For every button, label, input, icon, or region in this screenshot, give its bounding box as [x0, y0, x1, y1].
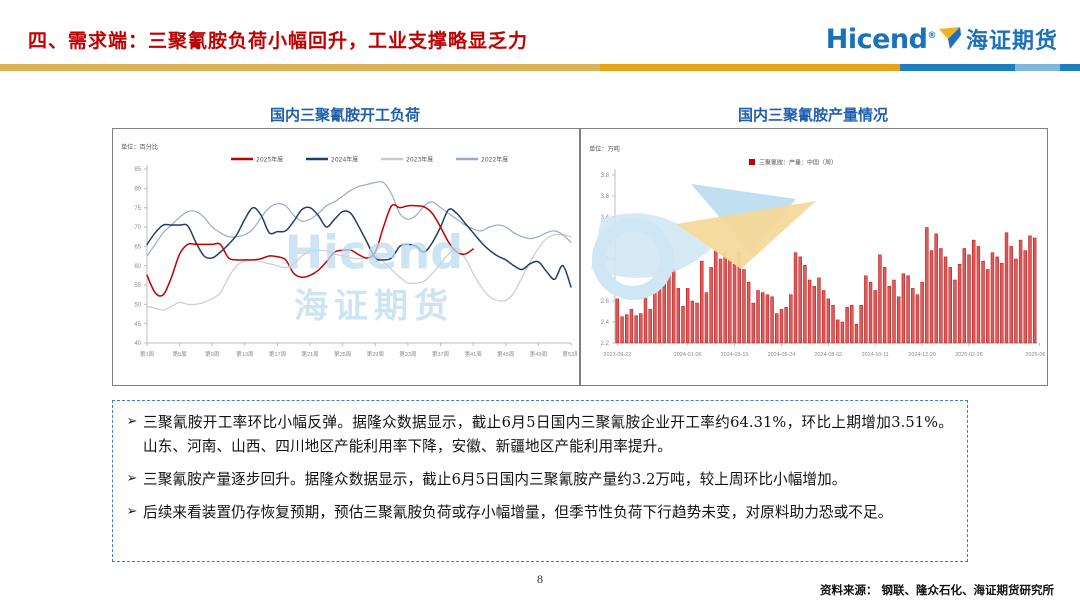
svg-text:第1周: 第1周 [140, 350, 154, 358]
svg-text:2024-12-20: 2024-12-20 [908, 352, 936, 358]
svg-text:单位：万吨: 单位：万吨 [589, 145, 620, 153]
svg-text:3.6: 3.6 [601, 194, 610, 200]
left-line-chart: 单位：百分比2025年度2024年度2023年度2022年度4045505560… [113, 129, 577, 383]
list-item: ➢ 后续来看装置仍存恢复预期，预估三聚氰胺负荷或存小幅增量，但季节性负荷下行趋势… [121, 501, 953, 525]
bullet-marker-icon: ➢ [121, 411, 143, 432]
svg-text:85: 85 [134, 167, 141, 173]
svg-text:3.2: 3.2 [601, 236, 610, 242]
registered-mark-icon: ® [927, 31, 936, 41]
left-chart-panel: Hicend 海证期货 单位：百分比2025年度2024年度2023年度2022… [112, 128, 580, 386]
company-logo: Hicend® 海证期货 [826, 22, 1058, 56]
svg-text:第17周: 第17周 [269, 350, 286, 358]
right-chart-title: 国内三聚氰胺产量情况 [578, 104, 1048, 125]
svg-text:第21周: 第21周 [301, 350, 318, 358]
bullet-text: 后续来看装置仍存恢复预期，预估三聚氰胺负荷或存小幅增量，但季节性负荷下行趋势未变… [143, 501, 953, 525]
svg-text:80: 80 [134, 187, 141, 193]
svg-text:3: 3 [606, 257, 610, 263]
svg-text:2025-02-28: 2025-02-28 [955, 352, 983, 358]
svg-text:第5周: 第5周 [172, 350, 186, 358]
svg-text:2.4: 2.4 [601, 320, 610, 326]
svg-text:2023年度: 2023年度 [406, 156, 433, 164]
bullet-marker-icon: ➢ [121, 468, 143, 489]
svg-text:40: 40 [134, 341, 141, 347]
summary-bullets: ➢ 三聚氰胺开工率环比小幅反弹。据隆众数据显示，截止6月5日国内三聚氰胺企业开工… [112, 400, 968, 562]
header-rule [0, 64, 1080, 71]
svg-text:三聚氰胺：产量：中国（周）: 三聚氰胺：产量：中国（周） [759, 159, 837, 167]
list-item: ➢ 三聚氰胺产量逐步回升。据隆众数据显示，截止6月5日国内三聚氰胺产量约3.2万… [121, 468, 953, 492]
right-chart-panel: 单位：万吨三聚氰胺：产量：中国（周）2.22.42.62.833.23.43.6… [580, 128, 1048, 386]
bullet-marker-icon: ➢ [121, 501, 143, 522]
svg-text:2025-06-06: 2025-06-06 [1026, 352, 1045, 358]
svg-text:2024-03-15: 2024-03-15 [721, 352, 749, 358]
bullet-text: 三聚氰胺开工率环比小幅反弹。据隆众数据显示，截止6月5日国内三聚氰胺企业开工率约… [143, 411, 953, 459]
svg-text:75: 75 [134, 206, 141, 212]
svg-text:2.2: 2.2 [601, 341, 610, 347]
svg-text:第41周: 第41周 [464, 350, 481, 358]
svg-text:2022年度: 2022年度 [481, 156, 508, 164]
svg-text:第49周: 第49周 [530, 350, 547, 358]
svg-text:50: 50 [134, 303, 141, 309]
source-note: 资料来源： 钢联、隆众石化、海证期货研究所 [820, 582, 1054, 598]
svg-text:2024年度: 2024年度 [331, 156, 358, 164]
svg-text:65: 65 [134, 245, 141, 251]
svg-text:第45周: 第45周 [497, 350, 514, 358]
svg-text:45: 45 [134, 322, 141, 328]
logo-wordmark: Hicend® [826, 26, 936, 53]
svg-text:2023-09-22: 2023-09-22 [604, 352, 632, 358]
svg-text:单位：百分比: 单位：百分比 [121, 143, 158, 151]
logo-chinese-name: 海证期货 [966, 23, 1058, 55]
svg-text:2024-10-11: 2024-10-11 [862, 352, 889, 358]
left-chart-title: 国内三聚氰胺开工负荷 [110, 104, 580, 125]
svg-text:2.8: 2.8 [601, 278, 610, 284]
svg-text:2024-01-06: 2024-01-06 [674, 352, 702, 358]
svg-text:第33周: 第33周 [399, 350, 416, 358]
svg-text:2025年度: 2025年度 [256, 156, 283, 164]
svg-text:第53周: 第53周 [562, 350, 577, 358]
right-bar-chart: 单位：万吨三聚氰胺：产量：中国（周）2.22.42.62.833.23.43.6… [581, 129, 1045, 383]
svg-text:3.4: 3.4 [601, 215, 610, 221]
svg-text:第13周: 第13周 [236, 350, 253, 358]
svg-text:第9周: 第9周 [205, 350, 219, 358]
svg-text:70: 70 [134, 225, 141, 231]
svg-text:第29周: 第29周 [367, 350, 384, 358]
slide-header: 四、需求端：三聚氰胺负荷小幅回升，工业支撑略显乏力 Hicend® 海证期货 [0, 0, 1080, 72]
svg-text:第37周: 第37周 [432, 350, 449, 358]
svg-text:60: 60 [134, 264, 141, 270]
svg-text:2024-05-24: 2024-05-24 [768, 352, 796, 358]
svg-text:55: 55 [134, 283, 141, 289]
svg-text:2.6: 2.6 [601, 299, 610, 305]
svg-text:第25周: 第25周 [334, 350, 351, 358]
svg-text:3.8: 3.8 [601, 173, 610, 179]
bullet-text: 三聚氰胺产量逐步回升。据隆众数据显示，截止6月5日国内三聚氰胺产量约3.2万吨，… [143, 468, 953, 492]
page-title: 四、需求端：三聚氰胺负荷小幅回升，工业支撑略显乏力 [28, 26, 528, 53]
svg-text:2024-08-02: 2024-08-02 [815, 352, 843, 358]
list-item: ➢ 三聚氰胺开工率环比小幅反弹。据隆众数据显示，截止6月5日国内三聚氰胺企业开工… [121, 411, 953, 459]
arrow-mark-icon [936, 25, 962, 53]
slide-root: 四、需求端：三聚氰胺负荷小幅回升，工业支撑略显乏力 Hicend® 海证期货 国… [0, 0, 1080, 608]
